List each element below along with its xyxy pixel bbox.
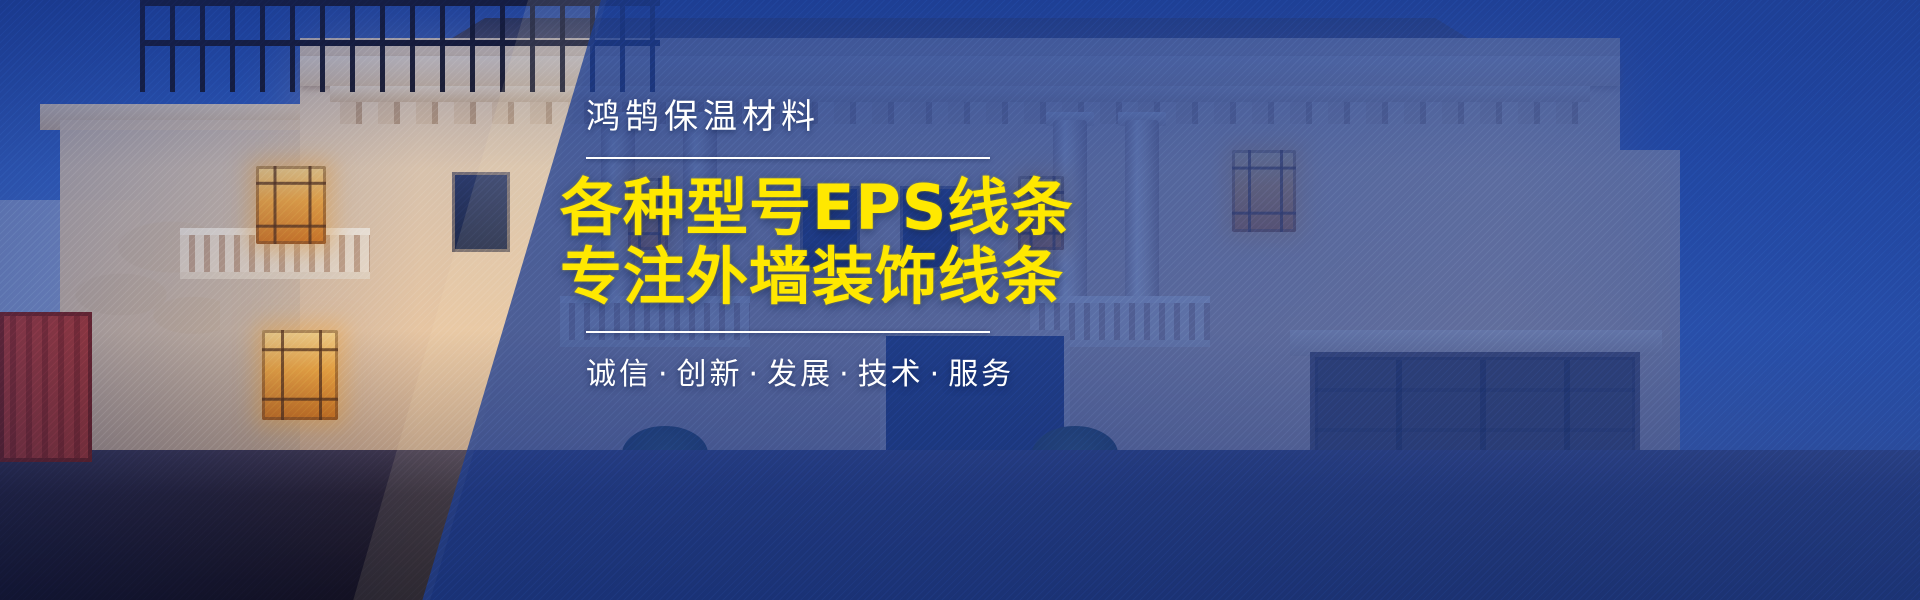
tagline-item: 服务 [948, 357, 1014, 392]
tagline: 诚信·创新·发展·技术·服务 [560, 349, 1020, 393]
brand-name: 鸿鹄保温材料 [560, 96, 1020, 139]
headline-line-2: 专注外墙装饰线条 [560, 242, 1020, 311]
headline-line-1: 各种型号EPS线条 [560, 173, 1020, 242]
tagline-item: 技术 [858, 357, 924, 392]
tagline-separator: · [652, 357, 677, 392]
tagline-separator: · [743, 357, 768, 392]
promo-banner: 鸿鹄保温材料 各种型号EPS线条 专注外墙装饰线条 诚信·创新·发展·技术·服务 [0, 0, 1920, 600]
tagline-separator: · [924, 357, 949, 392]
tagline-separator: · [833, 357, 858, 392]
tagline-item: 诚信 [586, 357, 652, 392]
divider-bottom [586, 331, 990, 333]
divider-top [586, 157, 990, 159]
tagline-item: 创新 [677, 357, 743, 392]
tagline-item: 发展 [767, 357, 833, 392]
banner-copy: 鸿鹄保温材料 各种型号EPS线条 专注外墙装饰线条 诚信·创新·发展·技术·服务 [560, 96, 1020, 393]
